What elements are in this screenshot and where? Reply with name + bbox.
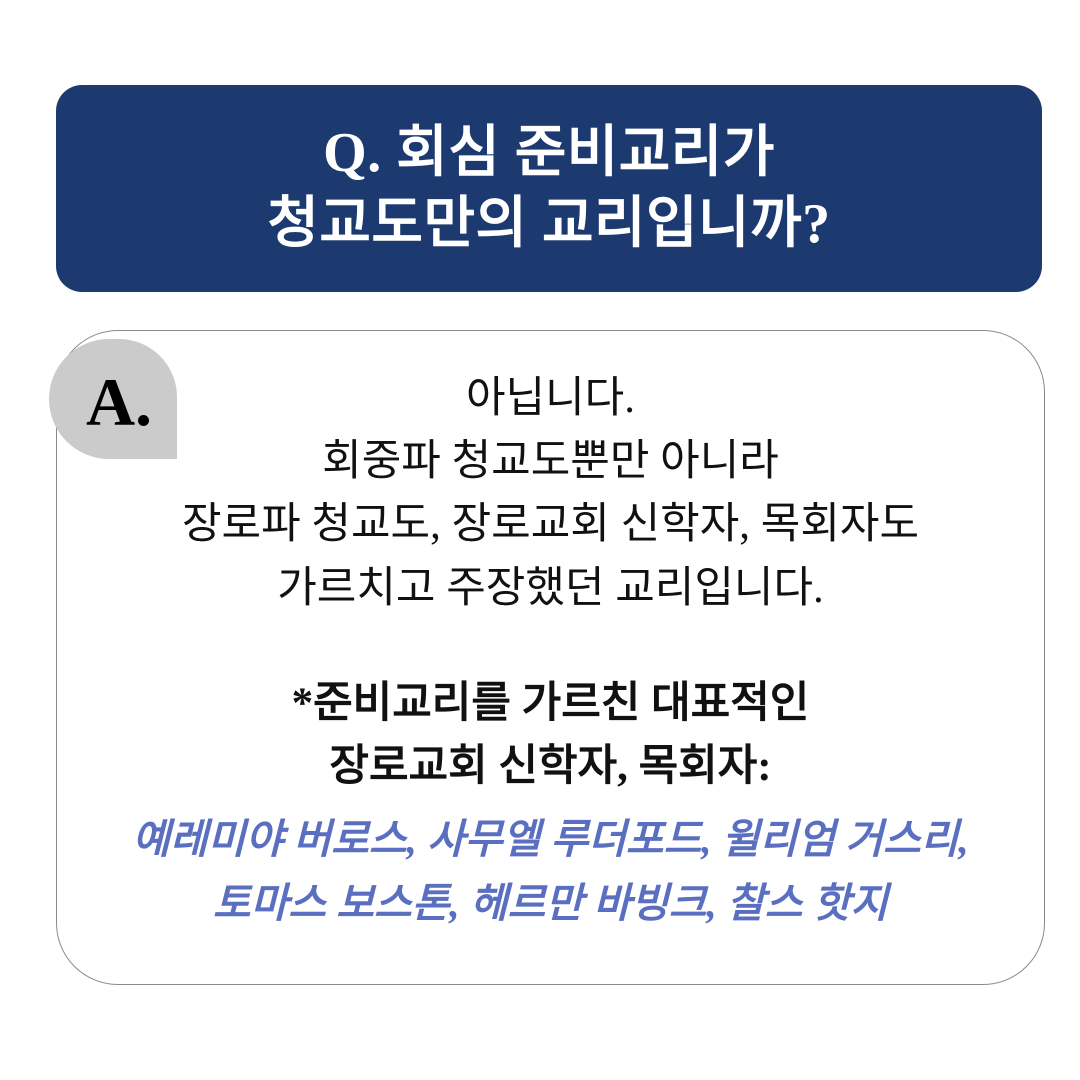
answer-emphasis-line-2: 장로교회 신학자, 목회자: <box>329 735 771 798</box>
question-line-1: Q. 회심 준비교리가 <box>323 118 775 189</box>
theologian-name-line-2: 토마스 보스톤, 헤르만 바빙크, 찰스 핫지 <box>213 872 888 936</box>
answer-intro-line-2: 회중파 청교도뿐만 아니라 <box>322 430 779 493</box>
answer-intro-line-1: 아닙니다. <box>466 367 635 430</box>
theologian-name-line-1: 예레미야 버로스, 사무엘 루더포드, 윌리엄 거스리, <box>132 808 968 872</box>
answer-emphasis-line-1: *준비교리를 가르친 대표적인 <box>292 672 810 735</box>
answer-badge: A. <box>49 339 177 459</box>
question-line-2: 청교도만의 교리입니까? <box>267 189 830 260</box>
answer-badge-label: A. <box>86 368 152 436</box>
qa-card-page: Q. 회심 준비교리가 청교도만의 교리입니까? 아닙니다. 회중파 청교도뿐만… <box>0 0 1080 1080</box>
answer-intro-line-4: 가르치고 주장했던 교리입니다. <box>277 557 824 620</box>
answer-body: 아닙니다. 회중파 청교도뿐만 아니라 장로파 청교도, 장로교회 신학자, 목… <box>57 331 1044 984</box>
answer-intro-line-3: 장로파 청교도, 장로교회 신학자, 목회자도 <box>182 493 919 556</box>
answer-card: 아닙니다. 회중파 청교도뿐만 아니라 장로파 청교도, 장로교회 신학자, 목… <box>56 330 1045 985</box>
question-banner: Q. 회심 준비교리가 청교도만의 교리입니까? <box>56 85 1042 292</box>
